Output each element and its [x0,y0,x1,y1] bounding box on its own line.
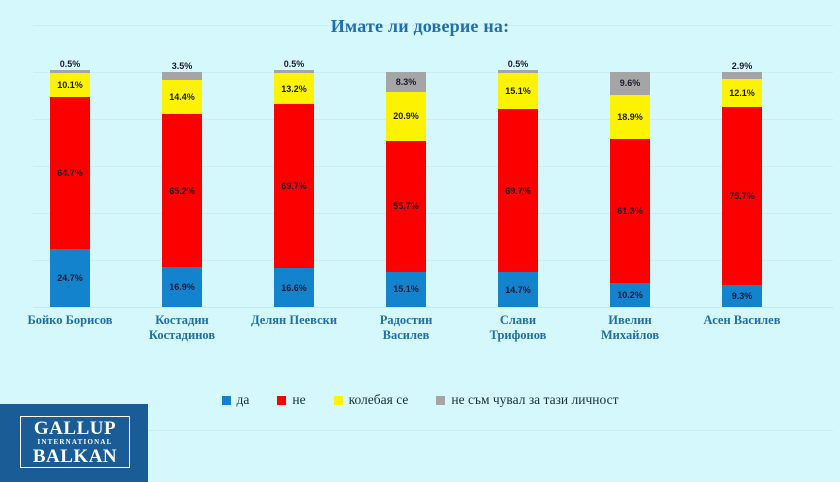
category-label-line: Делян Пеевски [238,313,350,328]
legend-item[interactable]: да [222,392,250,408]
bar-value-label: 16.6% [274,283,314,293]
bar-value-label: 69.7% [498,186,538,196]
bar-segment-не: 75.7% [722,107,762,285]
category-label-line: Михайлов [574,328,686,343]
bar-segment-да: 24.7% [50,249,90,307]
bar-segment-колебая-се: 10.1% [50,73,90,97]
bar-value-label: 65.2% [162,186,202,196]
legend-swatch-icon [222,396,231,405]
category-label: РадостинВасилев [350,313,462,343]
bar-value-label: 75.7% [722,191,762,201]
bar-value-label: 14.7% [498,285,538,295]
bar-group: 0.5%15.1%69.7%14.7% [462,0,574,307]
legend-swatch-icon [436,396,445,405]
stacked-bar[interactable]: 8.3%20.9%55.7%15.1% [386,72,426,307]
bar-segment-колебая-се: 15.1% [498,73,538,108]
bar-value-label: 9.3% [722,291,762,301]
bar-value-label: 69.7% [274,181,314,191]
bar-segment-да: 16.6% [274,268,314,307]
chart-page: Имате ли доверие на: 0.5%10.1%64.7%24.7%… [0,0,840,482]
category-label-line: Радостин [350,313,462,328]
bar-value-label: 10.2% [610,290,650,300]
bar-group: 2.9%12.1%75.7%9.3% [686,0,798,307]
category-label-line: Костадинов [126,328,238,343]
bar-value-label: 18.9% [610,112,650,122]
category-label-line: Бойко Борисов [14,313,126,328]
stacked-bar[interactable]: 0.5%13.2%69.7%16.6% [274,70,314,307]
category-label-line: Слави [462,313,574,328]
bar-segment-колебая-се: 18.9% [610,95,650,139]
legend-swatch-icon [277,396,286,405]
stacked-bar[interactable]: 9.6%18.9%61.3%10.2% [610,72,650,307]
logo-line-balkan: BALKAN [33,447,117,466]
logo-frame: GALLUP INTERNATIONAL BALKAN [20,416,130,468]
axis-baseline [33,307,833,308]
bar-segment-колебая-се: 20.9% [386,92,426,141]
legend-item[interactable]: колебая се [334,392,409,408]
bar-value-label: 24.7% [50,273,90,283]
category-label-line: Ивелин [574,313,686,328]
legend-label: да [237,392,250,408]
bar-segment-колебая-се: 13.2% [274,73,314,104]
bar-group: 0.5%13.2%69.7%16.6% [238,0,350,307]
bar-segment-да: 14.7% [498,272,538,307]
category-label-line: Асен Василев [686,313,798,328]
bar-value-label: 0.5% [274,59,314,69]
legend-label: не [292,392,305,408]
logo-line-gallup: GALLUP [34,419,116,438]
stacked-bar[interactable]: 3.5%14.4%65.2%16.9% [162,72,202,307]
bar-value-label: 2.9% [722,61,762,71]
legend-swatch-icon [334,396,343,405]
bar-value-label: 14.4% [162,92,202,102]
bar-value-label: 64.7% [50,168,90,178]
bar-value-label: 13.2% [274,84,314,94]
legend-item[interactable]: не [277,392,305,408]
bar-segment-не: 69.7% [498,109,538,273]
bar-segment-да: 15.1% [386,272,426,307]
bar-group: 0.5%10.1%64.7%24.7% [14,0,126,307]
stacked-bar-plot: 0.5%10.1%64.7%24.7%3.5%14.4%65.2%16.9%0.… [0,0,840,307]
bar-segment-не: 69.7% [274,104,314,268]
gallup-international-balkan-logo: GALLUP INTERNATIONAL BALKAN [0,404,148,482]
bar-segment-да: 10.2% [610,283,650,307]
category-label: ИвелинМихайлов [574,313,686,343]
bar-value-label: 15.1% [498,86,538,96]
category-label: Бойко Борисов [14,313,126,328]
bar-segment-не-съм-чувал-за-тази-личност: 2.9% [722,72,762,79]
bar-segment-да: 16.9% [162,267,202,307]
bar-value-label: 12.1% [722,88,762,98]
legend-label: колебая се [349,392,409,408]
bar-segment-колебая-се: 12.1% [722,79,762,107]
bar-value-label: 55.7% [386,201,426,211]
bar-group: 9.6%18.9%61.3%10.2% [574,0,686,307]
bar-segment-не: 64.7% [50,97,90,249]
bar-value-label: 20.9% [386,111,426,121]
category-label: КостадинКостадинов [126,313,238,343]
category-axis: Бойко БорисовКостадинКостадиновДелян Пее… [0,313,840,361]
bar-value-label: 61.3% [610,206,650,216]
bar-segment-не-съм-чувал-за-тази-личност: 9.6% [610,72,650,95]
bar-value-label: 0.5% [50,59,90,69]
bar-value-label: 16.9% [162,282,202,292]
bar-segment-да: 9.3% [722,285,762,307]
bar-group: 8.3%20.9%55.7%15.1% [350,0,462,307]
divider [33,430,833,431]
bar-segment-не: 55.7% [386,141,426,272]
bar-segment-колебая-се: 14.4% [162,80,202,114]
bar-segment-не-съм-чувал-за-тази-личност: 8.3% [386,72,426,92]
stacked-bar[interactable]: 0.5%15.1%69.7%14.7% [498,70,538,307]
category-label: Делян Пеевски [238,313,350,328]
legend-label: не съм чувал за тази личност [451,392,618,408]
bar-value-label: 3.5% [162,61,202,71]
bar-group: 3.5%14.4%65.2%16.9% [126,0,238,307]
legend-item[interactable]: не съм чувал за тази личност [436,392,618,408]
bar-value-label: 8.3% [386,77,426,87]
category-label: Асен Василев [686,313,798,328]
category-label-line: Василев [350,328,462,343]
bar-value-label: 10.1% [50,80,90,90]
category-label-line: Костадин [126,313,238,328]
bar-segment-не: 61.3% [610,139,650,283]
stacked-bar[interactable]: 2.9%12.1%75.7%9.3% [722,72,762,307]
bar-value-label: 0.5% [498,59,538,69]
bar-segment-не: 65.2% [162,114,202,267]
category-label-line: Трифонов [462,328,574,343]
category-label: СлавиТрифонов [462,313,574,343]
bar-value-label: 15.1% [386,284,426,294]
bar-value-label: 9.6% [610,78,650,88]
stacked-bar[interactable]: 0.5%10.1%64.7%24.7% [50,70,90,307]
bar-segment-не-съм-чувал-за-тази-личност: 3.5% [162,72,202,80]
